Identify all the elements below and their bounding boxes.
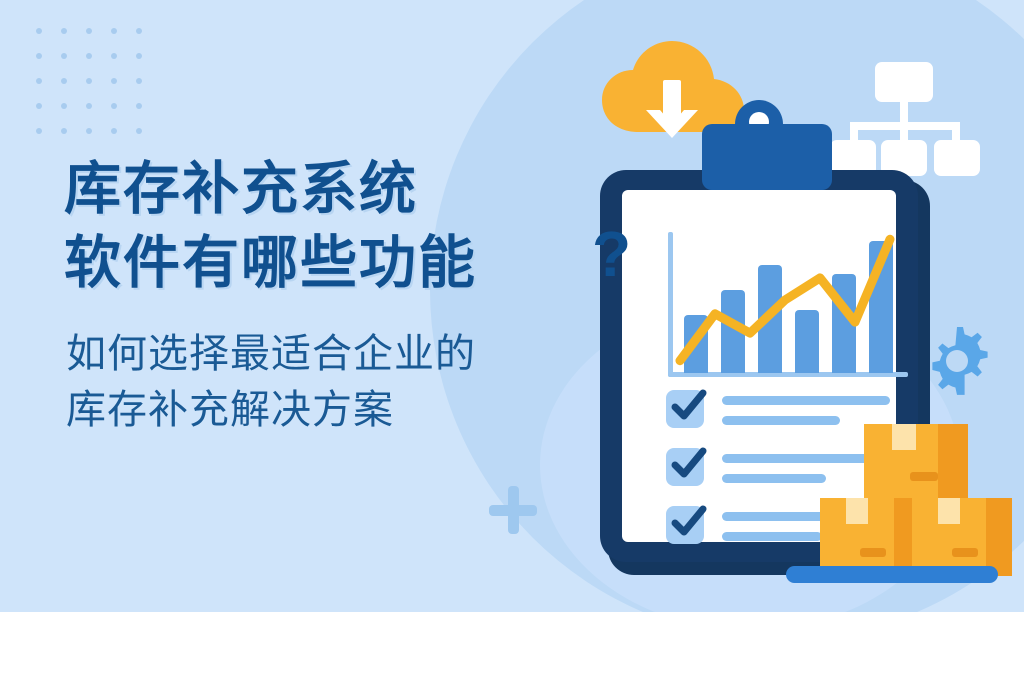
page-subtitle: 如何选择最适合企业的 库存补充解决方案 <box>66 326 626 438</box>
org-chart-icon <box>830 62 980 160</box>
grid-dot <box>86 28 92 34</box>
check-icon <box>669 502 709 542</box>
carton-box-bottom-right <box>912 498 1012 576</box>
headline-line-1: 库存补充系统 <box>64 152 664 226</box>
grid-dot <box>136 28 142 34</box>
grid-dot <box>136 128 142 134</box>
grid-dot <box>111 103 117 109</box>
grid-dot <box>86 128 92 134</box>
grid-dot <box>86 53 92 59</box>
platform-bar <box>786 566 998 583</box>
grid-dot <box>61 128 67 134</box>
grid-dot <box>61 28 67 34</box>
dot-grid-pattern <box>36 28 148 140</box>
grid-dot <box>111 53 117 59</box>
org-chart-child-node <box>934 140 980 176</box>
bar-chart <box>668 232 908 377</box>
gear-icon <box>921 325 993 397</box>
bottom-white-strip <box>0 612 1024 683</box>
grid-dot <box>36 78 42 84</box>
grid-dot <box>136 103 142 109</box>
grid-dot <box>86 103 92 109</box>
subhead-line-2: 库存补充解决方案 <box>66 382 626 438</box>
check-icon <box>669 386 709 426</box>
plus-icon <box>489 486 537 534</box>
grid-dot <box>36 103 42 109</box>
clipboard-clip <box>702 124 832 190</box>
grid-dot <box>136 53 142 59</box>
headline-line-2: 软件有哪些功能 <box>64 226 664 300</box>
grid-dot <box>86 78 92 84</box>
grid-dot <box>36 128 42 134</box>
carton-box-bottom-left <box>820 498 920 576</box>
checklist-text-line <box>722 532 822 541</box>
poster-canvas: 库存补充系统 软件有哪些功能 ? 如何选择最适合企业的 库存补充解决方案 <box>0 0 1024 683</box>
grid-dot <box>136 78 142 84</box>
checklist-text-line <box>722 396 890 405</box>
grid-dot <box>111 78 117 84</box>
grid-dot <box>111 128 117 134</box>
grid-dot <box>111 28 117 34</box>
page-title: 库存补充系统 软件有哪些功能 <box>64 152 664 300</box>
grid-dot <box>36 28 42 34</box>
check-icon <box>669 444 709 484</box>
carton-boxes-icon <box>820 424 1010 579</box>
grid-dot <box>61 78 67 84</box>
chart-trend-line <box>668 232 908 377</box>
subhead-line-1: 如何选择最适合企业的 <box>66 326 626 382</box>
grid-dot <box>61 53 67 59</box>
headline-question-mark: ? <box>592 222 631 286</box>
carton-box-top <box>864 424 968 502</box>
org-chart-parent-node <box>875 62 933 102</box>
grid-dot <box>36 53 42 59</box>
checklist-text-line <box>722 474 826 483</box>
grid-dot <box>61 103 67 109</box>
